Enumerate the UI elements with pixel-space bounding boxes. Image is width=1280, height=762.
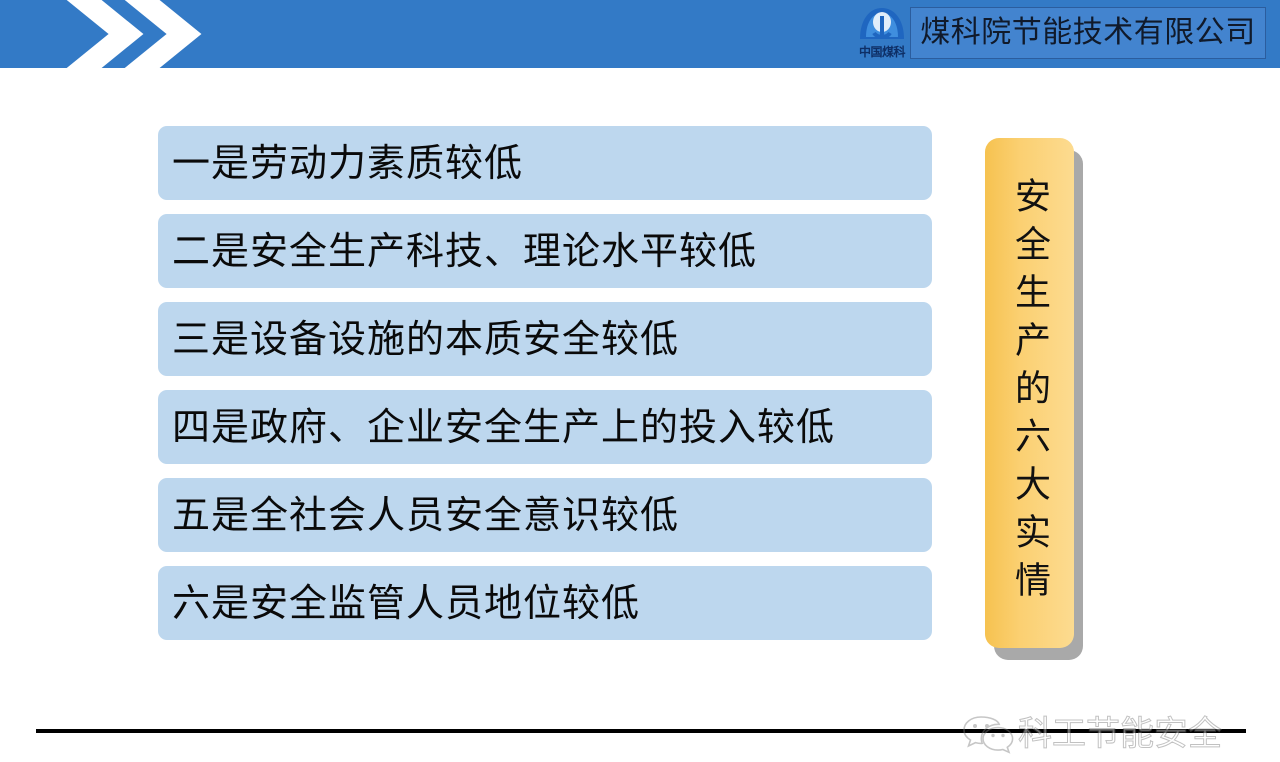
company-title: 煤科院节能技术有限公司 [920, 16, 1256, 50]
point-box: 一是劳动力素质较低 [158, 126, 932, 200]
point-box: 六是安全监管人员地位较低 [158, 566, 932, 640]
header-bar: 中国煤科 煤科院节能技术有限公司 [0, 0, 1280, 68]
point-box: 二是安全生产科技、理论水平较低 [158, 214, 932, 288]
points-list: 一是劳动力素质较低 二是安全生产科技、理论水平较低 三是设备设施的本质安全较低 … [158, 126, 932, 642]
side-panel-body: 安全生产的六大实情 [985, 138, 1074, 648]
point-box: 五是全社会人员安全意识较低 [158, 478, 932, 552]
slide-content: 一是劳动力素质较低 二是安全生产科技、理论水平较低 三是设备设施的本质安全较低 … [0, 68, 1280, 720]
point-box: 三是设备设施的本质安全较低 [158, 302, 932, 376]
double-chevron-right-icon [30, 0, 230, 68]
side-panel: 安全生产的六大实情 [985, 138, 1083, 660]
zhongguo-meike-emblem-icon [856, 5, 908, 43]
side-panel-label: 安全生产的六大实情 [1005, 177, 1054, 609]
point-text: 二是安全生产科技、理论水平较低 [172, 223, 932, 279]
footer-watermark: 科工节能安全 [962, 706, 1262, 762]
company-title-box: 煤科院节能技术有限公司 [910, 7, 1266, 59]
point-text: 六是安全监管人员地位较低 [172, 575, 932, 631]
point-text: 五是全社会人员安全意识较低 [172, 487, 932, 543]
point-text: 四是政府、企业安全生产上的投入较低 [172, 399, 932, 455]
point-box: 四是政府、企业安全生产上的投入较低 [158, 390, 932, 464]
point-text: 一是劳动力素质较低 [172, 135, 932, 191]
point-text: 三是设备设施的本质安全较低 [172, 311, 932, 367]
footer-watermark-text: 科工节能安全 [1018, 714, 1222, 754]
wechat-icon [962, 712, 1014, 756]
